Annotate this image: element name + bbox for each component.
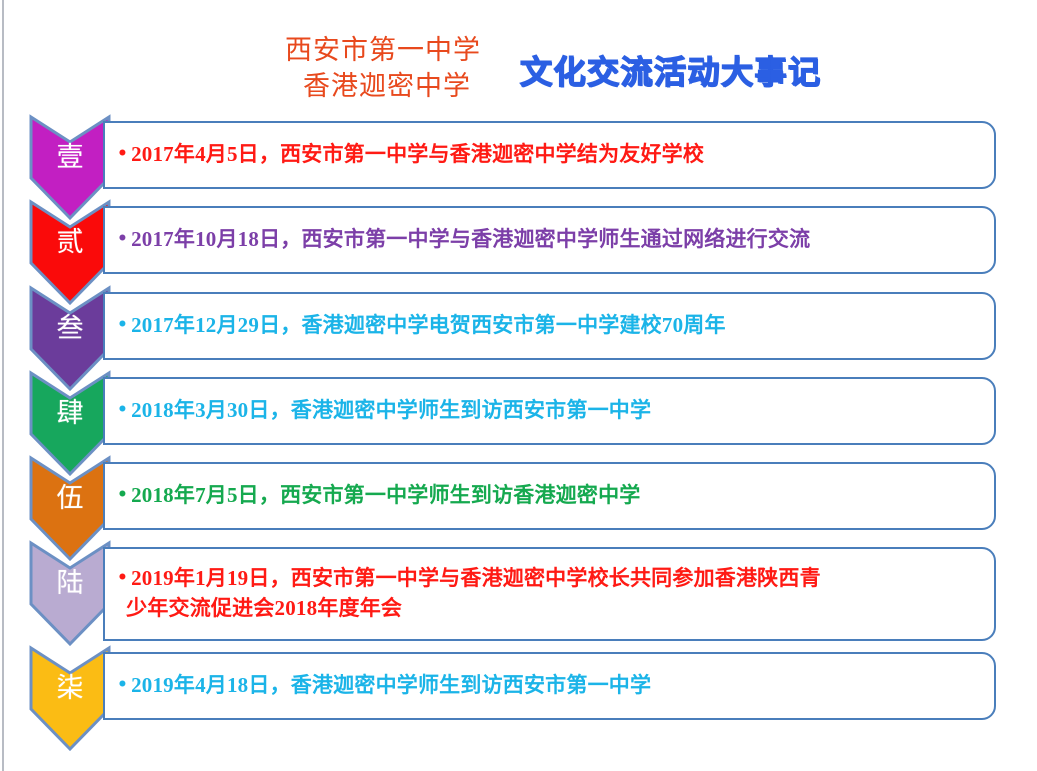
bullet-icon: •: [117, 144, 128, 164]
timeline-entry-line-text: 2017年12月29日，香港迦密中学电贺西安市第一中学建校70周年: [131, 313, 726, 337]
bullet-icon: •: [117, 229, 128, 249]
timeline-entry-content: •2019年1月19日，西安市第一中学与香港迦密中学校长共同参加香港陕西青 少年…: [105, 560, 994, 628]
timeline-entry-line: •2017年10月18日，西安市第一中学与香港迦密中学师生通过网络进行交流: [117, 225, 980, 255]
bullet-icon: •: [117, 315, 128, 335]
timeline-entry-box: •2018年7月5日，西安市第一中学师生到访香港迦密中学: [103, 462, 996, 530]
page-title: 文化交流活动大事记: [520, 47, 822, 93]
timeline-entry-box: •2018年3月30日，香港迦密中学师生到访西安市第一中学: [103, 377, 996, 445]
chevron-shape: [29, 541, 111, 646]
timeline-entry-line: •2019年1月19日，西安市第一中学与香港迦密中学校长共同参加香港陕西青: [117, 564, 980, 594]
timeline-entry-line-text: 少年交流促进会2018年度年会: [126, 596, 402, 620]
timeline-entry-line: •2017年12月29日，香港迦密中学电贺西安市第一中学建校70周年: [117, 311, 980, 341]
timeline-entry-box: •2019年4月18日，香港迦密中学师生到访西安市第一中学: [103, 652, 996, 720]
timeline-entry-text: •2018年7月5日，西安市第一中学师生到访香港迦密中学: [117, 481, 980, 511]
bullet-icon: •: [117, 400, 128, 420]
timeline-entry-box: •2019年1月19日，西安市第一中学与香港迦密中学校长共同参加香港陕西青 少年…: [103, 547, 996, 641]
timeline-entry-line-text: 2018年7月5日，西安市第一中学师生到访香港迦密中学: [131, 483, 640, 507]
timeline-entry-line-text: 2019年4月18日，香港迦密中学师生到访西安市第一中学: [131, 673, 651, 697]
timeline-entry-text: •2017年10月18日，西安市第一中学与香港迦密中学师生通过网络进行交流: [117, 225, 980, 255]
timeline-entry-text: •2017年4月5日，西安市第一中学与香港迦密中学结为友好学校: [117, 140, 980, 170]
timeline-entry-box: •2017年4月5日，西安市第一中学与香港迦密中学结为友好学校: [103, 121, 996, 189]
timeline-entry-line: •2018年3月30日，香港迦密中学师生到访西安市第一中学: [117, 396, 980, 426]
school-title-line-2: 香港迦密中学: [266, 69, 508, 105]
step-chevron-badge: 柒: [29, 646, 111, 751]
timeline-entry-text: •2017年12月29日，香港迦密中学电贺西安市第一中学建校70周年: [117, 311, 980, 341]
slide-canvas: 西安市第一中学 香港迦密中学 文化交流活动大事记 壹•2017年4月5日，西安市…: [0, 0, 1037, 771]
timeline-entry-line: 少年交流促进会2018年度年会: [117, 594, 980, 624]
chevron-shape: [29, 646, 111, 751]
timeline-entry-content: •2017年10月18日，西安市第一中学与香港迦密中学师生通过网络进行交流: [105, 221, 994, 259]
timeline-entry-line-text: 2017年10月18日，西安市第一中学与香港迦密中学师生通过网络进行交流: [131, 227, 810, 251]
bullet-icon: •: [117, 675, 128, 695]
timeline-entry-line: •2018年7月5日，西安市第一中学师生到访香港迦密中学: [117, 481, 980, 511]
timeline-entry-text: •2019年1月19日，西安市第一中学与香港迦密中学校长共同参加香港陕西青 少年…: [117, 564, 980, 624]
timeline-entry-content: •2019年4月18日，香港迦密中学师生到访西安市第一中学: [105, 667, 994, 705]
timeline-entry-text: •2018年3月30日，香港迦密中学师生到访西安市第一中学: [117, 396, 980, 426]
timeline-entry-content: •2017年4月5日，西安市第一中学与香港迦密中学结为友好学校: [105, 136, 994, 174]
timeline-entry-content: •2018年7月5日，西安市第一中学师生到访香港迦密中学: [105, 477, 994, 515]
step-chevron-badge: 陆: [29, 541, 111, 646]
timeline-entry-text: •2019年4月18日，香港迦密中学师生到访西安市第一中学: [117, 671, 980, 701]
timeline-entry-line: •2017年4月5日，西安市第一中学与香港迦密中学结为友好学校: [117, 140, 980, 170]
timeline-entry-line-text: 2018年3月30日，香港迦密中学师生到访西安市第一中学: [131, 398, 651, 422]
slide-header: 西安市第一中学 香港迦密中学 文化交流活动大事记: [0, 0, 1037, 115]
school-title-line-1: 西安市第一中学: [258, 33, 508, 69]
timeline-entry-line-text: 2017年4月5日，西安市第一中学与香港迦密中学结为友好学校: [131, 142, 704, 166]
timeline-entry-line-text: 2019年1月19日，西安市第一中学与香港迦密中学校长共同参加香港陕西青: [131, 566, 821, 590]
bullet-icon: •: [117, 485, 128, 505]
school-title: 西安市第一中学 香港迦密中学: [258, 33, 508, 104]
timeline-entry-box: •2017年10月18日，西安市第一中学与香港迦密中学师生通过网络进行交流: [103, 206, 996, 274]
timeline-entry-line: •2019年4月18日，香港迦密中学师生到访西安市第一中学: [117, 671, 980, 701]
timeline-entry-content: •2018年3月30日，香港迦密中学师生到访西安市第一中学: [105, 392, 994, 430]
bullet-icon: •: [117, 568, 128, 588]
timeline-entry-box: •2017年12月29日，香港迦密中学电贺西安市第一中学建校70周年: [103, 292, 996, 360]
timeline-entry-content: •2017年12月29日，香港迦密中学电贺西安市第一中学建校70周年: [105, 307, 994, 345]
timeline-list: 壹•2017年4月5日，西安市第一中学与香港迦密中学结为友好学校贰•2017年1…: [0, 115, 1037, 771]
